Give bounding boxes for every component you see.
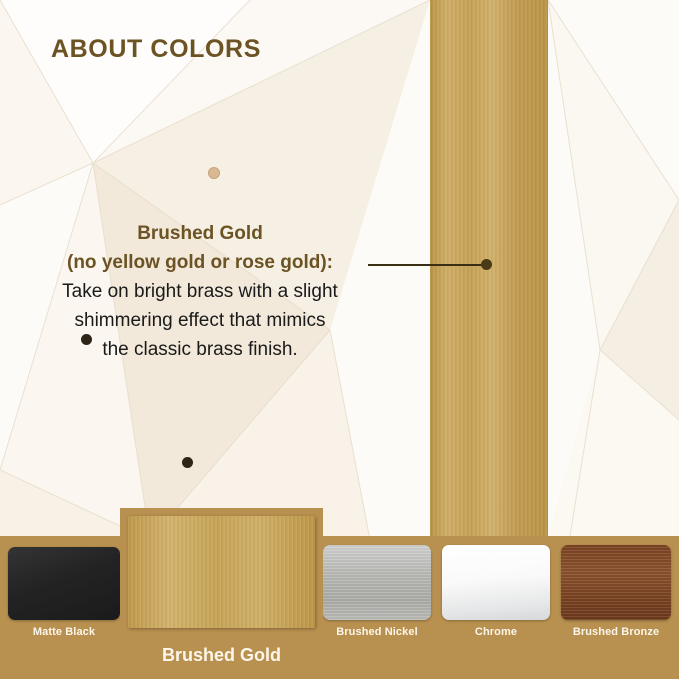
swatch-brushed-nickel[interactable] xyxy=(323,545,431,620)
swatch-label-matte-black: Matte Black xyxy=(8,626,120,638)
callout-leader-dot xyxy=(481,259,492,270)
swatch-tile-brushed-bronze xyxy=(561,545,671,620)
callout-heading-line-1: Brushed Gold xyxy=(40,219,360,248)
swatch-brushed-bronze[interactable] xyxy=(561,545,671,620)
swatch-label-brushed-nickel: Brushed Nickel xyxy=(323,626,431,638)
page-title: ABOUT COLORS xyxy=(51,35,261,64)
callout-body-line-2: shimmering effect that mimics xyxy=(40,306,360,335)
swatch-tile-brushed-nickel xyxy=(323,545,431,620)
callout-leader-line xyxy=(368,264,484,266)
swatch-label-brushed-gold: Brushed Gold xyxy=(120,645,323,666)
swatch-tile-matte-black xyxy=(8,547,120,620)
swatch-chrome[interactable] xyxy=(442,545,550,620)
swatch-tile-brushed-gold xyxy=(128,516,315,628)
decor-dot-dark-lower xyxy=(182,457,193,468)
swatch-matte-black[interactable] xyxy=(8,547,120,620)
swatch-tile-chrome xyxy=(442,545,550,620)
callout-body-line-1: Take on bright brass with a slight xyxy=(40,277,360,306)
swatch-label-chrome: Chrome xyxy=(442,626,550,638)
decor-dot-tan xyxy=(208,167,220,179)
swatch-label-brushed-bronze: Brushed Bronze xyxy=(561,626,671,638)
about-colors-infographic: ABOUT COLORS Brushed Gold (no yellow gol… xyxy=(0,0,679,679)
decor-dot-dark-upper xyxy=(81,334,92,345)
swatch-brushed-gold-featured[interactable] xyxy=(120,508,323,636)
callout-heading-line-2: (no yellow gold or rose gold): xyxy=(40,248,360,277)
